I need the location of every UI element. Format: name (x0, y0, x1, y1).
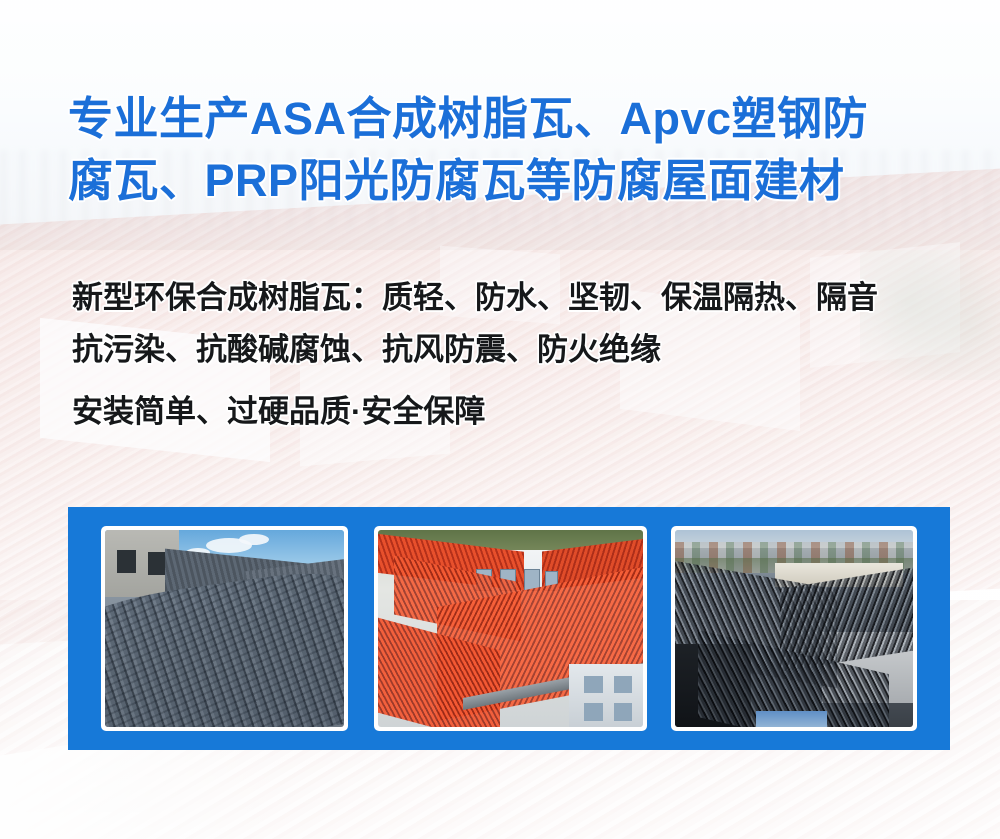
photo1-window (117, 550, 136, 574)
black-roof-image (675, 530, 913, 727)
photo2-window (584, 703, 602, 721)
photo2-window (614, 703, 632, 721)
photo2-window (584, 676, 602, 694)
photo1-cloud (239, 534, 269, 545)
subtitle-line-1: 新型环保合成树脂瓦：质轻、防水、坚韧、保温隔热、隔音 (72, 272, 962, 324)
red-roof-image (378, 530, 642, 727)
gray-roof-image (105, 530, 344, 727)
photo2-window (614, 676, 632, 694)
red-resin-tile-roof-photo (374, 526, 646, 731)
banner-subtitle: 新型环保合成树脂瓦：质轻、防水、坚韧、保温隔热、隔音 抗污染、抗酸碱腐蚀、抗风防… (72, 272, 962, 438)
product-promo-banner: 专业生产ASA合成树脂瓦、Apvc塑钢防 腐瓦、PRP阳光防腐瓦等防腐屋面建材 … (0, 0, 1000, 839)
black-resin-tile-roof-photo (671, 526, 917, 731)
gray-resin-tile-roof-photo (101, 526, 348, 731)
headline-line-2: 腐瓦、PRP阳光防腐瓦等防腐屋面建材 (68, 150, 958, 212)
product-photo-gallery (68, 507, 950, 750)
photo1-window (148, 552, 165, 576)
subtitle-line-2: 抗污染、抗酸碱腐蚀、抗风防震、防火绝缘 (72, 324, 962, 376)
photo3-foreground-detail (756, 711, 828, 727)
headline-line-1: 专业生产ASA合成树脂瓦、Apvc塑钢防 (68, 88, 958, 150)
subtitle-line-3: 安装简单、过硬品质·安全保障 (72, 386, 962, 438)
banner-headline: 专业生产ASA合成树脂瓦、Apvc塑钢防 腐瓦、PRP阳光防腐瓦等防腐屋面建材 (68, 88, 958, 212)
